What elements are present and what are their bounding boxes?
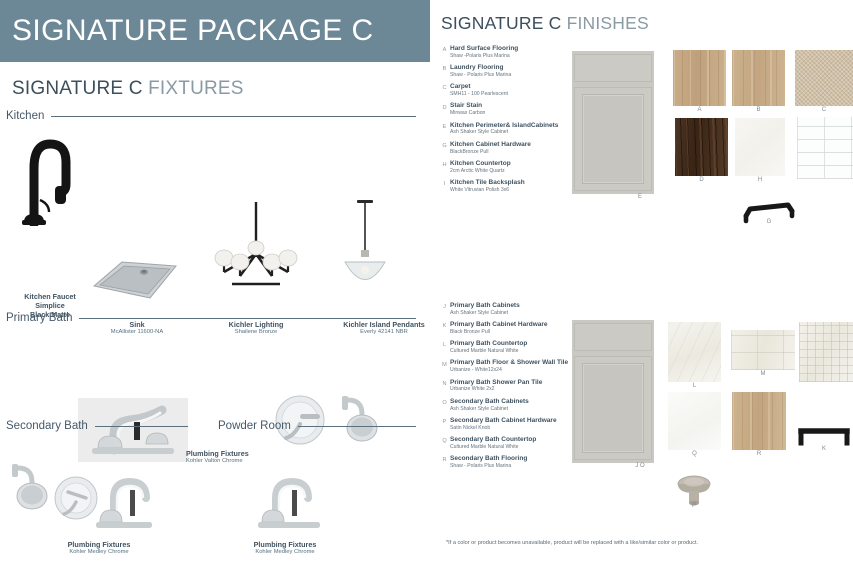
availability-note: *If a color or product becomes unavailab…: [446, 540, 698, 546]
swatch-primary-bath-countertop: L: [668, 322, 721, 382]
finish-row: B Laundry Flooring Shaw - Polaris Plus M…: [439, 64, 579, 78]
finish-name: Primary Bath Cabinets: [450, 302, 579, 310]
finish-desc: 2cm Arctic White Quartz: [450, 168, 579, 174]
fixture-caption-secondary-plumbing: Plumbing Fixtures Kohler Medley Chrome: [44, 540, 154, 557]
cabinet-door: [574, 87, 652, 191]
finish-row: H Kitchen Countertop 2cm Arctic White Qu…: [439, 160, 579, 174]
fixture-sub1: Simplice: [0, 301, 100, 310]
package-banner: SIGNATURE PACKAGE C: [0, 0, 430, 62]
finish-name: Primary Bath Cabinet Hardware: [450, 321, 579, 329]
finish-row: A Hard Surface Flooring Shaw -Polaris Pl…: [439, 45, 579, 59]
finish-desc: Urbanize - White12x24: [450, 367, 579, 373]
finish-name: Secondary Bath Countertop: [450, 436, 579, 444]
swatch-kitchen-backsplash: [797, 117, 853, 179]
swatch-chip: [799, 322, 853, 382]
swatch-chip: [668, 322, 721, 382]
finish-row: P Secondary Bath Cabinet Hardware Satin …: [439, 417, 579, 431]
finish-name: Kitchen Cabinet Hardware: [450, 141, 579, 149]
finish-key: K: [439, 321, 450, 335]
fixture-name: Plumbing Fixtures: [44, 540, 154, 549]
finish-key: I: [439, 179, 450, 193]
swatch-secondary-bath-countertop: Q: [668, 392, 721, 450]
fixture-sub1: Everly 42141 NBR: [330, 329, 438, 336]
finish-key: N: [439, 379, 450, 393]
finish-desc: Satin Nickel Knob: [450, 425, 579, 431]
fixture-sub1: Shailene Bronze: [206, 329, 306, 336]
kitchen-sink-image: [88, 252, 180, 312]
swatch-chip: [732, 50, 785, 106]
cabinet-drawer: [574, 323, 652, 352]
finish-key: P: [439, 417, 450, 431]
section-label-primary-bath: Primary Bath: [6, 312, 79, 324]
swatch-letter-e: E: [632, 194, 648, 204]
swatch-chip: [735, 118, 785, 176]
finish-row: C Carpet SMH11 - 100 Pearlescent: [439, 83, 579, 97]
section-header-powder-room: Powder Room: [218, 420, 416, 432]
finish-key: E: [439, 122, 450, 136]
section-header-primary-bath: Primary Bath: [6, 312, 416, 324]
finish-desc: Shaw - Polaris Plus Marina: [450, 72, 579, 78]
finishes-heading: SIGNATURE C FINISHES: [436, 0, 853, 34]
finish-name: Primary Bath Shower Pan Tile: [450, 379, 579, 387]
swatch-letter-m: M: [731, 371, 795, 377]
finish-row: M Primary Bath Floor & Shower Wall Tile …: [439, 359, 579, 373]
finish-key: C: [439, 83, 450, 97]
cabinet-drawer: [574, 54, 652, 83]
section-rule: [79, 318, 416, 319]
finishes-column: SIGNATURE C FINISHES A Hard Surface Floo…: [436, 0, 853, 569]
finish-name: Kitchen Tile Backsplash: [450, 179, 579, 187]
swatch-chip: [797, 117, 853, 179]
fixtures-heading-light: FIXTURES: [148, 78, 244, 99]
section-rule: [95, 426, 188, 427]
swatch-letter-c: C: [795, 107, 853, 113]
swatch-cabinet-bath: [572, 320, 654, 463]
finish-name: Kitchen Perimeter& IslandCabinets: [450, 122, 579, 130]
swatch-letter-h: H: [735, 177, 785, 183]
swatch-chip: [732, 392, 786, 450]
finishes-list-bottom: J Primary Bath Cabinets Ash Shaker Style…: [439, 302, 579, 474]
finish-row: D Stair Stain Minwax Carbon: [439, 102, 579, 116]
fixture-caption-powder-plumbing: Plumbing Fixtures Kohler Medley Chrome: [230, 540, 340, 557]
finish-desc: Minwax Carbon: [450, 110, 579, 116]
powder-room-faucet-image: [250, 460, 334, 536]
finishes-heading-light: FINISHES: [567, 13, 649, 33]
swatch-hard-surface-flooring: A: [673, 50, 726, 106]
swatch-letter-l: L: [668, 383, 721, 389]
swatch-chip: [673, 50, 726, 106]
finish-desc: Urbanize White 2x2: [450, 386, 579, 392]
finish-name: Secondary Bath Flooring: [450, 455, 579, 463]
finish-key: B: [439, 64, 450, 78]
swatch-primary-bath-hardware: K: [796, 425, 852, 455]
swatch-chip: [731, 330, 795, 370]
swatch-letter-d: D: [675, 177, 728, 183]
swatch-chip: [675, 118, 728, 176]
finish-key: O: [439, 398, 450, 412]
cabinet-panel: [582, 94, 644, 184]
finish-key: D: [439, 102, 450, 116]
finish-desc: SMH11 - 100 Pearlescent: [450, 91, 579, 97]
swatch-cabinet-kitchen: [572, 51, 654, 194]
swatch-chip: [668, 392, 721, 450]
finish-desc: Cultured Marble Natural White: [450, 444, 579, 450]
fixture-name: Plumbing Fixtures: [230, 540, 340, 549]
swatch-letter-g: G: [741, 219, 797, 225]
package-title: SIGNATURE PACKAGE C: [0, 14, 374, 48]
cabinet-panel: [582, 363, 644, 453]
swatch-primary-bath-tile: M: [731, 330, 795, 370]
swatch-kitchen-countertop: H: [735, 118, 785, 176]
finish-key: L: [439, 340, 450, 354]
swatch-secondary-bath-flooring: R: [732, 392, 786, 450]
finish-row: L Primary Bath Countertop Cultured Marbl…: [439, 340, 579, 354]
swatch-letter-jo: J O: [628, 463, 652, 473]
fixtures-heading-bold: SIGNATURE C: [12, 78, 143, 99]
finish-desc: White Vitruvian Polish 3x6: [450, 187, 579, 193]
finish-key: G: [439, 141, 450, 155]
finish-name: Stair Stain: [450, 102, 579, 110]
finish-name: Secondary Bath Cabinet Hardware: [450, 417, 579, 425]
swatch-letter-a: A: [673, 107, 726, 113]
finish-desc: Black Bronze Pull: [450, 329, 579, 335]
fixture-sub1: Kohler Medley Chrome: [44, 549, 154, 556]
swatch-letter-k: K: [796, 446, 852, 452]
finish-key: H: [439, 160, 450, 174]
swatch-letter-b: B: [732, 107, 785, 113]
swatch-carpet: C: [795, 50, 853, 106]
fixture-sub1: Kohler Medley Chrome: [230, 549, 340, 556]
swatch-letter-p: P: [666, 503, 722, 509]
finish-row: R Secondary Bath Flooring Shaw - Polaris…: [439, 455, 579, 469]
section-header-secondary-bath: Secondary Bath: [6, 420, 188, 432]
section-label-secondary-bath: Secondary Bath: [6, 420, 95, 432]
swatch-laundry-flooring: B: [732, 50, 785, 106]
kichler-lighting-image: [212, 202, 300, 298]
finish-desc: Ash Shaker Style Cabinet: [450, 406, 579, 412]
section-label-powder-room: Powder Room: [218, 420, 298, 432]
section-rule: [298, 426, 416, 427]
finishes-list-top: A Hard Surface Flooring Shaw -Polaris Pl…: [439, 45, 579, 198]
fixture-name: Kitchen Faucet: [0, 292, 100, 301]
swatch-primary-shower-pan-tile: [799, 322, 853, 382]
finish-key: Q: [439, 436, 450, 450]
cabinet-door: [574, 356, 652, 460]
finish-desc: Cultured Marble Natural White: [450, 348, 579, 354]
finish-row: J Primary Bath Cabinets Ash Shaker Style…: [439, 302, 579, 316]
fixture-sub1: McAllister 11600-NA: [94, 329, 180, 336]
finish-name: Primary Bath Countertop: [450, 340, 579, 348]
finish-name: Kitchen Countertop: [450, 160, 579, 168]
finish-key: A: [439, 45, 450, 59]
finish-desc: Ash Shaker Style Cabinet: [450, 129, 579, 135]
finish-desc: BlackBronze Pull: [450, 149, 579, 155]
finish-row: N Primary Bath Shower Pan Tile Urbanize …: [439, 379, 579, 393]
fixtures-column: SIGNATURE C FIXTURES Kitchen Kitchen Fau…: [0, 62, 430, 569]
swatch-secondary-bath-hardware: P: [666, 472, 722, 510]
swatch-letter-r: R: [732, 451, 786, 457]
swatch-stair-stain: D: [675, 118, 728, 176]
finish-row: G Kitchen Cabinet Hardware BlackBronze P…: [439, 141, 579, 155]
kitchen-faucet-image: [14, 130, 84, 226]
finish-desc: Shaw - Polaris Plus Marina: [450, 463, 579, 469]
finish-name: Hard Surface Flooring: [450, 45, 579, 53]
finish-name: Primary Bath Floor & Shower Wall Tile: [450, 359, 579, 367]
section-header-kitchen: Kitchen: [6, 110, 416, 122]
finish-row: O Secondary Bath Cabinets Ash Shaker Sty…: [439, 398, 579, 412]
swatch-chip: [795, 50, 853, 106]
finish-key: M: [439, 359, 450, 373]
secondary-bath-fixtures-image: [8, 460, 158, 536]
swatch-kitchen-cabinet-hardware: G: [741, 196, 797, 226]
finish-key: J: [439, 302, 450, 316]
section-label-kitchen: Kitchen: [6, 110, 51, 122]
finish-desc: Shaw -Polaris Plus Marina: [450, 53, 579, 59]
finishes-heading-bold: SIGNATURE C: [441, 13, 562, 33]
fixtures-heading: SIGNATURE C FIXTURES: [0, 62, 430, 100]
swatch-letter-q: Q: [668, 451, 721, 457]
finish-row: E Kitchen Perimeter& IslandCabinets Ash …: [439, 122, 579, 136]
finish-row: I Kitchen Tile Backsplash White Vitruvia…: [439, 179, 579, 193]
section-rule: [51, 116, 416, 117]
finish-row: Q Secondary Bath Countertop Cultured Mar…: [439, 436, 579, 450]
finish-key: R: [439, 455, 450, 469]
finish-name: Laundry Flooring: [450, 64, 579, 72]
finish-desc: Ash Shaker Style Cabinet: [450, 310, 579, 316]
finish-row: K Primary Bath Cabinet Hardware Black Br…: [439, 321, 579, 335]
finish-name: Secondary Bath Cabinets: [450, 398, 579, 406]
finish-name: Carpet: [450, 83, 579, 91]
kichler-island-pendants-image: [336, 200, 394, 300]
package-spec-sheet: SIGNATURE PACKAGE C SIGNATURE C FIXTURES…: [0, 0, 853, 569]
